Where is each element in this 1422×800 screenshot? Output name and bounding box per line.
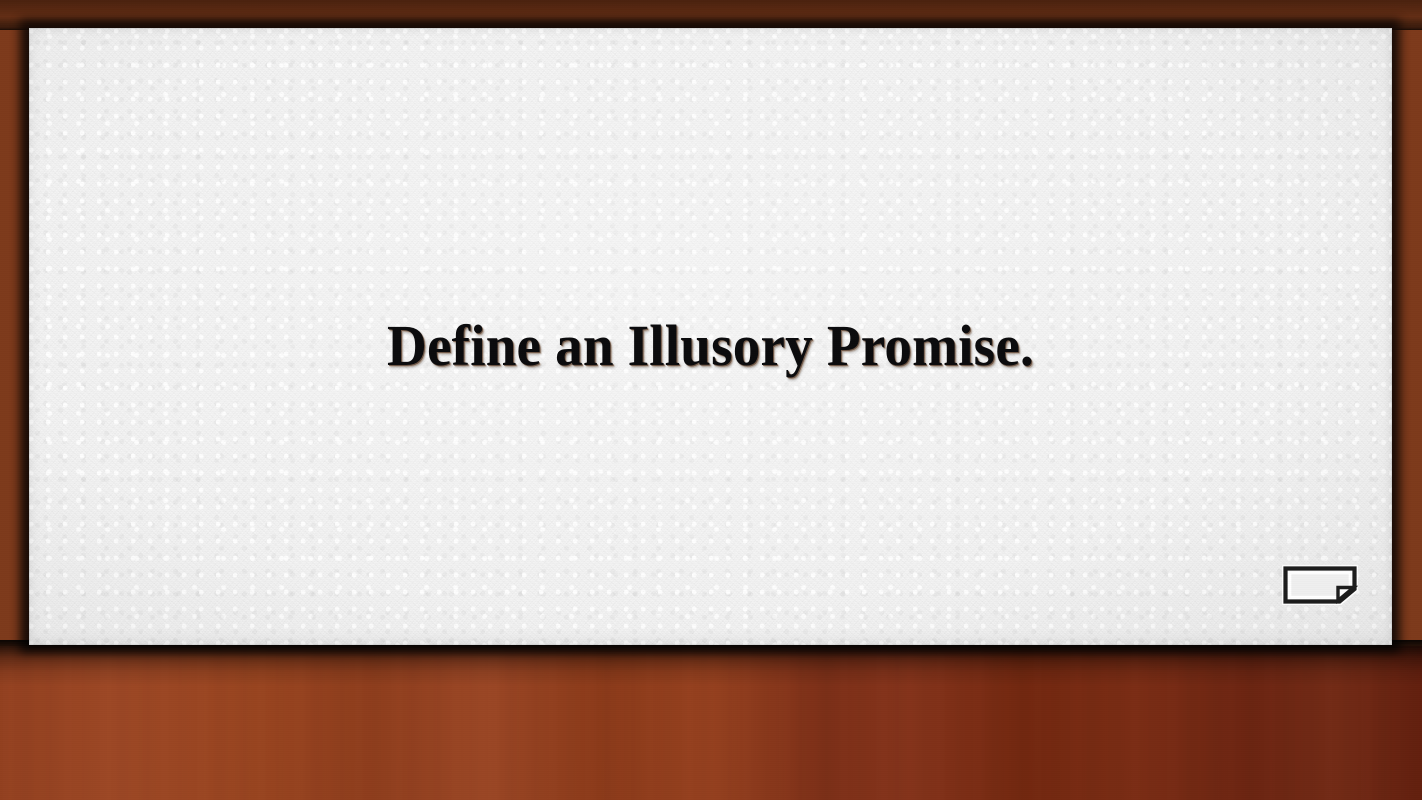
whiteboard-surface: Define an Illusory Promise. xyxy=(29,28,1392,645)
desk-cast-shadow xyxy=(0,640,1422,686)
slide-stage: Define an Illusory Promise. xyxy=(0,0,1422,800)
note-page-folded-corner-icon[interactable] xyxy=(1282,565,1358,605)
headline-container: Define an Illusory Promise. xyxy=(29,316,1392,377)
whiteboard-vignette xyxy=(29,28,1392,645)
slide-headline: Define an Illusory Promise. xyxy=(387,316,1034,377)
whiteboard-texture xyxy=(29,28,1392,645)
